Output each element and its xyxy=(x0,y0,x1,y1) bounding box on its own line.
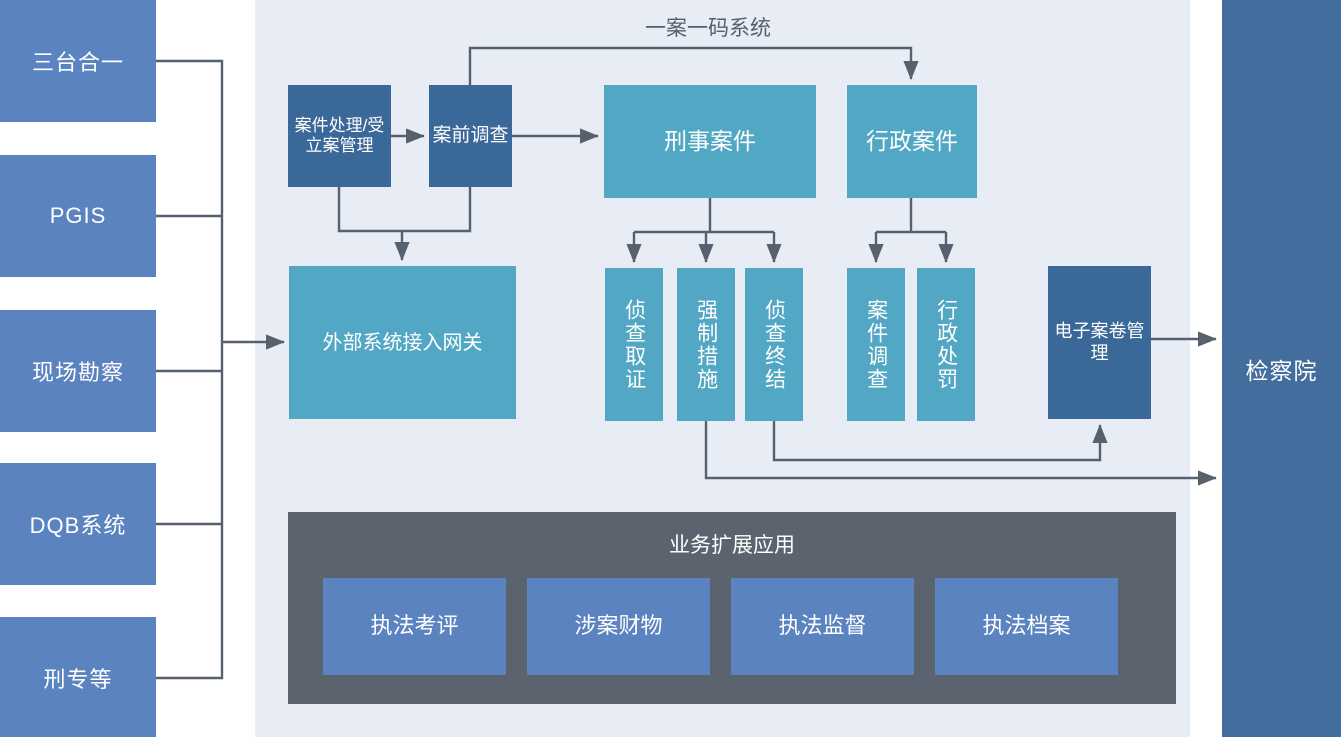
investigation-evidence-node[interactable]: 侦查取证 xyxy=(605,268,663,421)
procuratorate-panel[interactable]: 检察院 xyxy=(1222,0,1341,737)
investigation-conclusion-label: 侦查终结 xyxy=(761,299,786,391)
administrative-penalty-node[interactable]: 行政处罚 xyxy=(917,268,975,421)
case-investigation-node[interactable]: 案件调查 xyxy=(847,268,905,421)
app-enforcement-evaluation[interactable]: 执法考评 xyxy=(323,578,506,675)
source-label: 刑专等 xyxy=(43,662,112,694)
investigation-evidence-label: 侦查取证 xyxy=(621,299,646,391)
investigation-conclusion-node[interactable]: 侦查终结 xyxy=(745,268,803,421)
app-enforcement-archive[interactable]: 执法档案 xyxy=(935,578,1118,675)
external-system-gateway-node[interactable]: 外部系统接入网关 xyxy=(289,266,516,419)
app-label: 执法档案 xyxy=(982,613,1070,639)
pre-case-investigation-label: 案前调查 xyxy=(432,125,508,148)
page-title: 一案一码系统 xyxy=(645,12,771,42)
coercive-measures-node[interactable]: 强制措施 xyxy=(677,268,735,421)
source-box-1[interactable]: 三台合一 xyxy=(0,0,156,122)
app-label: 执法考评 xyxy=(370,613,458,639)
wire-source1-bus xyxy=(156,61,222,342)
case-handling-label: 案件处理/受立案管理 xyxy=(292,116,387,157)
electronic-case-file-node[interactable]: 电子案卷管理 xyxy=(1048,266,1151,419)
procuratorate-label: 检察院 xyxy=(1222,0,1341,737)
source-label: 现场勘察 xyxy=(32,355,124,387)
criminal-case-label: 刑事案件 xyxy=(664,128,756,156)
source-box-4[interactable]: DQB系统 xyxy=(0,463,156,585)
criminal-case-node[interactable]: 刑事案件 xyxy=(604,85,816,198)
wire-source5-bus xyxy=(156,342,222,678)
app-case-property[interactable]: 涉案财物 xyxy=(527,578,710,675)
gateway-label: 外部系统接入网关 xyxy=(323,331,483,355)
pre-case-investigation-node[interactable]: 案前调查 xyxy=(429,85,512,187)
coercive-measures-label: 强制措施 xyxy=(693,299,718,391)
source-box-5[interactable]: 刑专等 xyxy=(0,617,156,737)
administrative-case-node[interactable]: 行政案件 xyxy=(847,85,977,198)
diagram-canvas: 检察院 一案一码系统 三台合一 PGIS 现场勘察 DQB系统 刑专等 案件处理… xyxy=(0,0,1341,737)
administrative-case-label: 行政案件 xyxy=(866,128,958,156)
source-box-2[interactable]: PGIS xyxy=(0,155,156,277)
source-label: 三台合一 xyxy=(32,45,124,77)
case-handling-node[interactable]: 案件处理/受立案管理 xyxy=(288,85,391,187)
source-label: PGIS xyxy=(50,203,107,229)
administrative-penalty-label: 行政处罚 xyxy=(933,299,958,391)
source-label: DQB系统 xyxy=(30,508,127,540)
case-investigation-label: 案件调查 xyxy=(863,299,888,391)
electronic-case-file-label: 电子案卷管理 xyxy=(1052,321,1147,364)
app-enforcement-supervision[interactable]: 执法监督 xyxy=(731,578,914,675)
business-extension-title: 业务扩展应用 xyxy=(288,529,1176,559)
app-label: 执法监督 xyxy=(778,613,866,639)
app-label: 涉案财物 xyxy=(574,613,662,639)
source-box-3[interactable]: 现场勘察 xyxy=(0,310,156,432)
